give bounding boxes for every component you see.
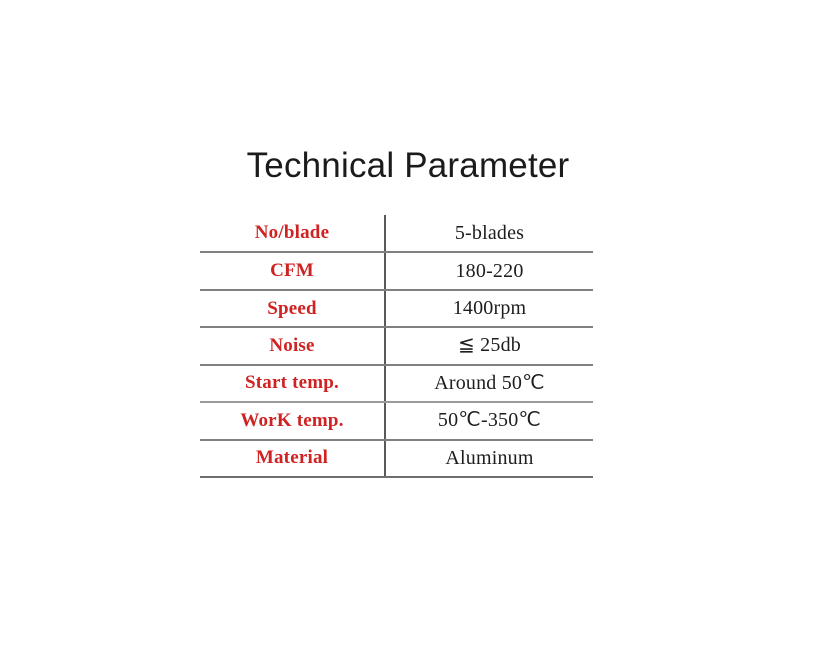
spec-value: 1400rpm	[385, 290, 593, 327]
spec-label: Start temp.	[200, 365, 385, 402]
spec-value: ≦ 25db	[385, 327, 593, 364]
spec-table-body: No/blade 5-blades CFM 180-220 Speed 1400…	[200, 215, 593, 477]
table-row: Material Aluminum	[200, 440, 593, 477]
spec-table: No/blade 5-blades CFM 180-220 Speed 1400…	[200, 215, 593, 478]
table-row: No/blade 5-blades	[200, 215, 593, 252]
table-row: Start temp. Around 50℃	[200, 365, 593, 402]
table-row: Speed 1400rpm	[200, 290, 593, 327]
technical-parameter-table: No/blade 5-blades CFM 180-220 Speed 1400…	[200, 215, 593, 478]
table-row: WorK temp. 50℃-350℃	[200, 402, 593, 439]
spec-label: No/blade	[200, 215, 385, 252]
spec-value: Around 50℃	[385, 365, 593, 402]
spec-sheet-page: Technical Parameter No/blade 5-blades CF…	[0, 0, 816, 666]
spec-label: Material	[200, 440, 385, 477]
spec-label: CFM	[200, 252, 385, 289]
table-row: Noise ≦ 25db	[200, 327, 593, 364]
page-title: Technical Parameter	[0, 144, 816, 188]
table-row: CFM 180-220	[200, 252, 593, 289]
spec-label: Noise	[200, 327, 385, 364]
spec-value: Aluminum	[385, 440, 593, 477]
spec-value: 50℃-350℃	[385, 402, 593, 439]
spec-label: WorK temp.	[200, 402, 385, 439]
spec-value: 180-220	[385, 252, 593, 289]
spec-value: 5-blades	[385, 215, 593, 252]
spec-label: Speed	[200, 290, 385, 327]
